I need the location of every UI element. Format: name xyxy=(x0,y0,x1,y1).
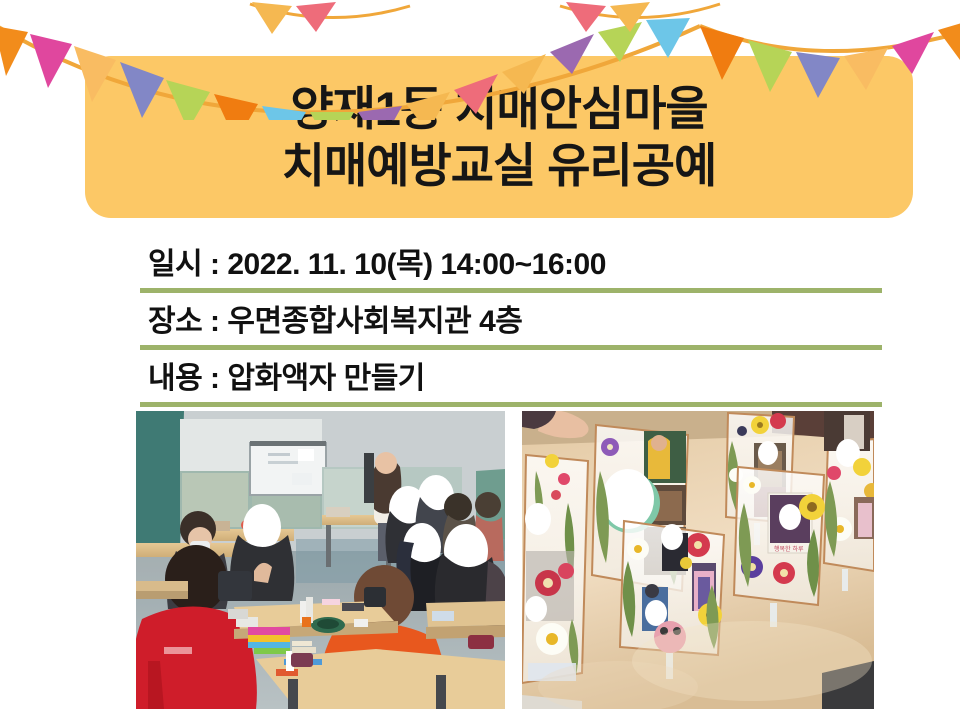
poster-title-line-2: 치매예방교실 유리공예 xyxy=(282,137,716,194)
info-row-location: 장소 : 우면종합사회복지관 4층 xyxy=(140,293,882,350)
classroom-activity-photo xyxy=(136,411,505,709)
svg-text:행복한 하루: 행복한 하루 xyxy=(774,545,804,553)
frame-a xyxy=(522,454,588,683)
info-content-text: 내용 : 압화액자 만들기 xyxy=(148,353,425,397)
frame-f xyxy=(824,411,874,591)
info-row-content: 내용 : 압화액자 만들기 xyxy=(140,350,882,407)
event-poster: 양재1동 치매안심마을 치매예방교실 유리공예 xyxy=(0,0,960,720)
bunting-string-right xyxy=(700,26,960,51)
bunting-string-top-left xyxy=(250,4,410,18)
info-location-text: 장소 : 우면종합사회복지관 4층 xyxy=(148,296,522,340)
title-banner: 양재1동 치매안심마을 치매예방교실 유리공예 xyxy=(85,56,913,218)
bunting-flags-top xyxy=(252,2,650,34)
poster-title-line-1: 양재1동 치매안심마을 xyxy=(290,80,707,137)
info-row-datetime: 일시 : 2022. 11. 10(목) 14:00~16:00 xyxy=(140,236,882,293)
event-details-list: 일시 : 2022. 11. 10(목) 14:00~16:00 장소 : 우면… xyxy=(140,236,882,407)
bunting-string-top-right xyxy=(560,4,720,18)
info-divider xyxy=(140,402,882,407)
info-datetime-text: 일시 : 2022. 11. 10(목) 14:00~16:00 xyxy=(148,239,606,283)
pressed-flower-frames-photo: 행복한 하루 xyxy=(522,411,874,709)
